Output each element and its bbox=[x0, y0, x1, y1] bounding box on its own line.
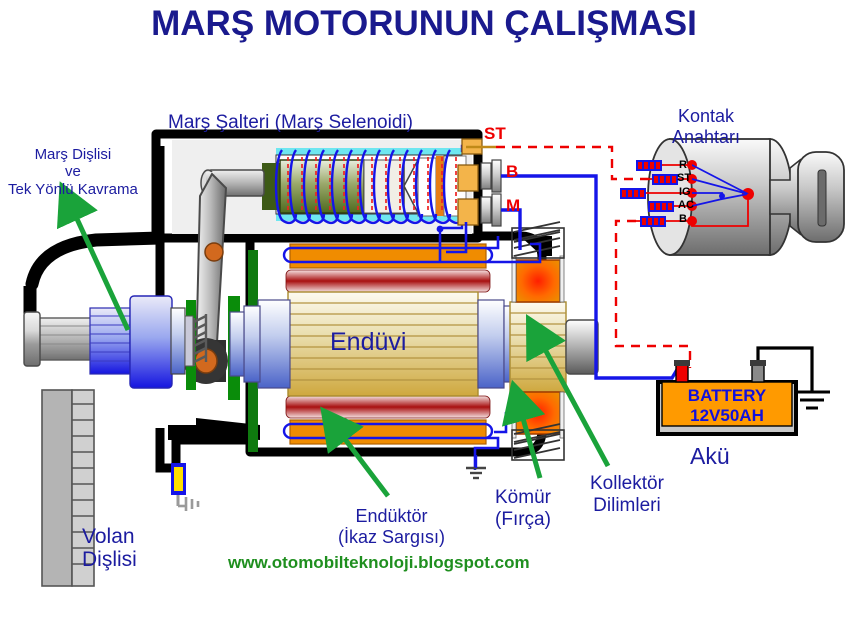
label-flywheel-line1: Volan bbox=[82, 525, 137, 548]
terminal-label-b: B bbox=[506, 162, 518, 182]
diagram-canvas: MARŞ MOTORUNUN ÇALIŞMASI Marş Şalteri (M… bbox=[0, 0, 848, 636]
ground-symbols bbox=[466, 455, 486, 478]
label-brush-line2: (Fırça) bbox=[495, 509, 551, 531]
chassis-ground-connector bbox=[171, 463, 198, 511]
battery-line2: 12V50AH bbox=[662, 406, 792, 426]
label-brush: Kömür (Fırça) bbox=[495, 487, 551, 531]
battery-rating-text: BATTERY 12V50AH bbox=[662, 386, 792, 425]
ignition-switch bbox=[620, 139, 844, 255]
terminal-label-m: M bbox=[506, 196, 520, 216]
switch-terminal-b: B bbox=[679, 213, 687, 225]
label-field-line2: (İkaz Sargısı) bbox=[338, 527, 445, 548]
label-flywheel-line2: Dişlisi bbox=[82, 548, 137, 571]
label-ignition-switch: Kontak Anahtarı bbox=[672, 106, 740, 147]
switch-terminal-st: ST bbox=[677, 172, 691, 184]
label-field-line1: Endüktör bbox=[338, 506, 445, 527]
label-solenoid: Marş Şalteri (Marş Selenoidi) bbox=[168, 112, 413, 133]
label-commutator-line2: Dilimleri bbox=[590, 495, 664, 517]
label-pinion-line2: ve bbox=[8, 163, 138, 180]
switch-terminal-ac: AC bbox=[678, 199, 694, 211]
terminal-label-st: ST bbox=[484, 124, 506, 144]
switch-terminal-ig: IG bbox=[679, 186, 691, 198]
label-ignition-line2: Anahtarı bbox=[672, 127, 740, 148]
label-brush-line1: Kömür bbox=[495, 487, 551, 509]
label-pinion-line1: Marş Dişlisi bbox=[8, 146, 138, 163]
label-battery: Akü bbox=[690, 444, 730, 470]
label-field-winding: Endüktör (İkaz Sargısı) bbox=[338, 506, 445, 547]
page-title: MARŞ MOTORUNUN ÇALIŞMASI bbox=[0, 4, 848, 43]
label-pinion-line3: Tek Yönlü Kavrama bbox=[8, 181, 138, 198]
label-flywheel-gear: Volan Dişlisi bbox=[82, 525, 137, 571]
label-pinion-drive: Marş Dişlisi ve Tek Yönlü Kavrama bbox=[8, 146, 138, 198]
label-commutator-line1: Kollektör bbox=[590, 473, 664, 495]
label-armature: Endüvi bbox=[330, 328, 406, 356]
source-url: www.otomobilteknoloji.blogspot.com bbox=[228, 553, 530, 572]
pinion-drive-assembly bbox=[24, 296, 206, 388]
label-commutator: Kollektör Dilimleri bbox=[590, 473, 664, 517]
label-ignition-line1: Kontak bbox=[672, 106, 740, 127]
switch-terminal-r: R bbox=[679, 159, 687, 171]
battery-line1: BATTERY bbox=[662, 386, 792, 406]
